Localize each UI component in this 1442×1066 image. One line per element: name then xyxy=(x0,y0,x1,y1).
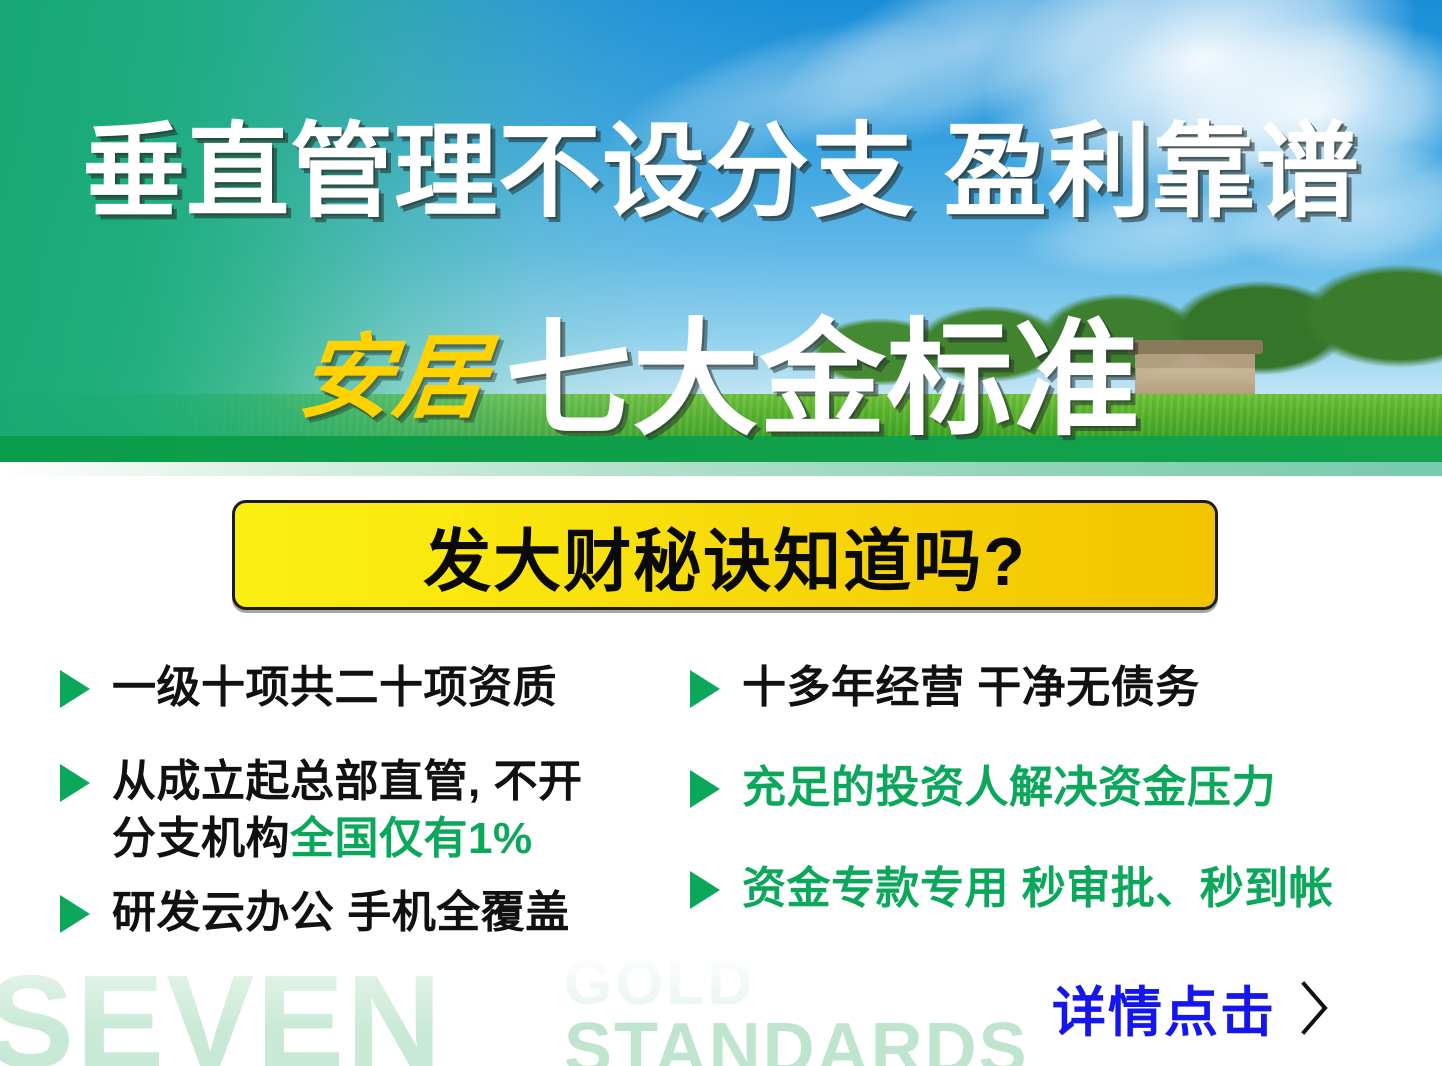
list-item: 从成立起总部直管, 不开 分支机构全国仅有1% xyxy=(60,754,700,867)
watermark-standards: STANDARDS xyxy=(564,1008,1029,1066)
list-item-line: 十多年经营 干净无债务 xyxy=(742,663,1200,712)
list-item-line: 资金专款专用 秒审批、秒到帐 xyxy=(742,864,1333,913)
list-item-text: 充足的投资人解决资金压力 xyxy=(742,760,1276,816)
chevron-right-icon xyxy=(1298,979,1332,1037)
list-item: 资金专款专用 秒审批、秒到帐 xyxy=(690,861,1420,917)
list-item-text: 从成立起总部直管, 不开 分支机构全国仅有1% xyxy=(112,754,582,867)
triangle-right-icon xyxy=(690,770,720,808)
list-item: 十多年经营 干净无债务 xyxy=(690,660,1420,716)
hero-subheadline-text: 七大金标准 xyxy=(506,278,1141,460)
hero-subheadline: 安居 七大金标准 xyxy=(0,278,1442,460)
triangle-right-icon xyxy=(690,871,720,909)
hero-fade-strip xyxy=(0,462,1442,476)
details-cta-button[interactable]: 详情点击 xyxy=(1052,968,1332,1047)
list-item-line-part: 分支机构 xyxy=(112,814,290,863)
list-item-line: 一级十项共二十项资质 xyxy=(112,663,557,712)
features-column-left: 一级十项共二十项资质 从成立起总部直管, 不开 分支机构全国仅有1% 研发云办公… xyxy=(60,660,700,969)
features-section: 一级十项共二十项资质 从成立起总部直管, 不开 分支机构全国仅有1% 研发云办公… xyxy=(0,660,1442,990)
list-item: 一级十项共二十项资质 xyxy=(60,660,700,716)
list-item-highlight: 全国仅有1% xyxy=(290,814,533,863)
list-item: 研发云办公 手机全覆盖 xyxy=(60,885,700,941)
list-item-text: 研发云办公 手机全覆盖 xyxy=(112,885,570,941)
list-item-line: 从成立起总部直管, 不开 xyxy=(112,757,582,806)
promotional-banner: 垂直管理不设分支 盈利靠谱 安居 七大金标准 发大财秘诀知道吗? 一级十项共二十… xyxy=(0,0,1442,1066)
list-item-line: 研发云办公 手机全覆盖 xyxy=(112,888,570,937)
list-item-text: 资金专款专用 秒审批、秒到帐 xyxy=(742,861,1333,917)
hero-text-group: 垂直管理不设分支 盈利靠谱 安居 七大金标准 xyxy=(0,0,1442,462)
list-item: 充足的投资人解决资金压力 xyxy=(690,760,1420,816)
features-column-right: 十多年经营 干净无债务 充足的投资人解决资金压力 资金专款专用 秒审批、秒到帐 xyxy=(690,660,1420,945)
list-item-line: 充足的投资人解决资金压力 xyxy=(742,763,1276,812)
triangle-right-icon xyxy=(60,764,90,802)
triangle-right-icon xyxy=(60,895,90,933)
list-item-text: 一级十项共二十项资质 xyxy=(112,660,557,716)
hero-brand-text: 安居 xyxy=(294,303,496,436)
triangle-right-icon xyxy=(60,670,90,708)
highlight-banner[interactable]: 发大财秘诀知道吗? xyxy=(232,500,1218,610)
hero-headline: 垂直管理不设分支 盈利靠谱 xyxy=(0,118,1442,226)
hero-section: 垂直管理不设分支 盈利靠谱 安居 七大金标准 xyxy=(0,0,1442,462)
triangle-right-icon xyxy=(690,670,720,708)
highlight-banner-text: 发大财秘诀知道吗? xyxy=(423,506,1027,605)
details-cta-label: 详情点击 xyxy=(1052,968,1276,1047)
list-item-text: 十多年经营 干净无债务 xyxy=(742,660,1200,716)
